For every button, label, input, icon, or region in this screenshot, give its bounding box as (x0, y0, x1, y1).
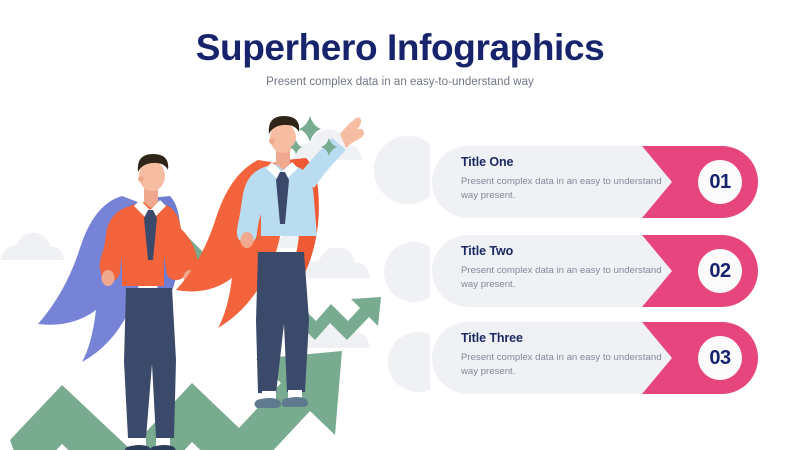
header: Superhero Infographics Present complex d… (0, 28, 800, 88)
card-title: Title Three (461, 331, 666, 346)
card-description: Present complex data in an easy to under… (461, 175, 666, 202)
ear (269, 138, 275, 144)
card-title: Title One (461, 155, 666, 170)
card-text-block: Title Two Present complex data in an eas… (461, 244, 666, 291)
background-circles (374, 136, 430, 392)
card-number-badge: 03 (698, 336, 742, 380)
page-subtitle: Present complex data in an easy-to-under… (0, 76, 800, 88)
card-description: Present complex data in an easy to under… (461, 351, 666, 378)
page-title: Superhero Infographics (0, 28, 800, 69)
card-text-block: Title One Present complex data in an eas… (461, 155, 666, 202)
slide-canvas: Superhero Infographics Present complex d… (0, 0, 800, 450)
card-number-badge: 02 (698, 249, 742, 293)
list-item[interactable]: Title Two Present complex data in an eas… (432, 235, 758, 307)
card-number-badge: 01 (698, 160, 742, 204)
card-title: Title Two (461, 244, 666, 259)
hand (102, 270, 115, 286)
list-item[interactable]: Title Three Present complex data in an e… (432, 322, 758, 394)
pants (124, 288, 176, 438)
list-item[interactable]: Title One Present complex data in an eas… (432, 146, 758, 218)
shoe (255, 398, 282, 408)
hero-illustration (0, 100, 430, 450)
ear (138, 176, 144, 182)
card-text-block: Title Three Present complex data in an e… (461, 331, 666, 378)
card-description: Present complex data in an easy to under… (461, 264, 666, 291)
hand (241, 232, 254, 248)
